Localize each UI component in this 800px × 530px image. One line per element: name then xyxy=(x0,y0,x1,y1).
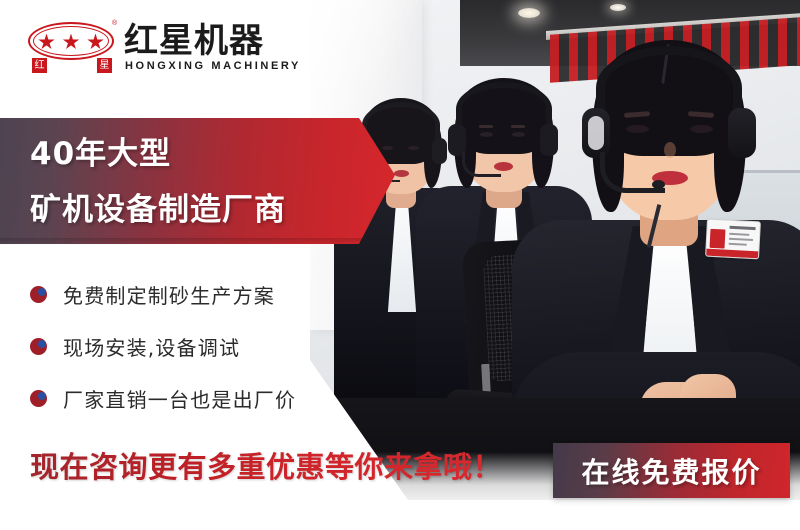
badge-bottom-bar xyxy=(706,249,758,259)
logo-char-hong: 红 xyxy=(32,58,47,73)
ceiling-light-icon xyxy=(518,8,540,18)
badge-text-line xyxy=(729,238,753,241)
list-item: 厂家直销一台也是出厂价 xyxy=(30,372,370,424)
cta-tagline: 现在咨询更有多重优惠等你来拿哦！ xyxy=(30,444,502,490)
office-photo xyxy=(310,0,800,500)
agent-front-headset-cushion xyxy=(588,116,604,150)
agent-front-id-badge xyxy=(705,219,761,260)
logo-stars xyxy=(38,32,104,52)
star-icon xyxy=(87,34,104,51)
badge-text-line xyxy=(729,233,749,236)
agent-middle-headset-mic xyxy=(462,152,501,177)
list-item-label: 免费制定制砂生产方案 xyxy=(63,280,275,309)
promo-banner: ® 红 星 红星机器 HONGXING MACHINERY 40年大型 矿机设备… xyxy=(0,0,800,530)
registered-trademark-icon: ® xyxy=(112,20,117,27)
agent-front-headset-band xyxy=(596,46,742,130)
online-free-quote-button-label: 在线免费报价 xyxy=(581,451,761,491)
agent-front-nose xyxy=(664,142,676,158)
star-icon xyxy=(63,34,80,51)
hongxing-oval-stars-logo-icon: ® 红 星 xyxy=(28,22,114,72)
badge-text-line xyxy=(730,226,756,230)
headline-line-2: 矿机设备制造厂商 xyxy=(30,182,370,238)
online-free-quote-button[interactable]: 在线免费报价 xyxy=(553,443,790,498)
agent-middle-headset-band xyxy=(456,82,552,136)
list-item-label: 厂家直销一台也是出厂价 xyxy=(63,384,296,413)
headline-text: 40年大型 矿机设备制造厂商 xyxy=(30,126,370,238)
headline-line-1: 40年大型 xyxy=(30,126,370,182)
logo-sub-chars: 红 星 xyxy=(32,58,112,74)
star-icon xyxy=(38,34,55,51)
agent-front-headset-cup-right xyxy=(728,108,756,158)
badge-logo-icon xyxy=(710,229,726,249)
list-item-label: 现场安装,设备调试 xyxy=(63,332,240,361)
brand-logo[interactable]: ® 红 星 红星机器 HONGXING MACHINERY xyxy=(28,22,258,82)
brand-name-cn: 红星机器 xyxy=(124,22,264,60)
bullet-dot-icon xyxy=(30,338,47,355)
ceiling-light-secondary-icon xyxy=(610,4,626,11)
list-item: 免费制定制砂生产方案 xyxy=(30,268,370,320)
agent-front-headset-mic-tip xyxy=(652,180,665,189)
brand-name-en: HONGXING MACHINERY xyxy=(125,60,301,72)
bullet-dot-icon xyxy=(30,286,47,303)
bullet-dot-icon xyxy=(30,390,47,407)
feature-list: 免费制定制砂生产方案 现场安装,设备调试 厂家直销一台也是出厂价 xyxy=(30,268,370,424)
badge-text-line xyxy=(729,243,747,246)
headline-band-shadow xyxy=(0,238,362,245)
list-item: 现场安装,设备调试 xyxy=(30,320,370,372)
chair-label xyxy=(481,364,491,394)
logo-char-xing: 星 xyxy=(97,58,112,73)
